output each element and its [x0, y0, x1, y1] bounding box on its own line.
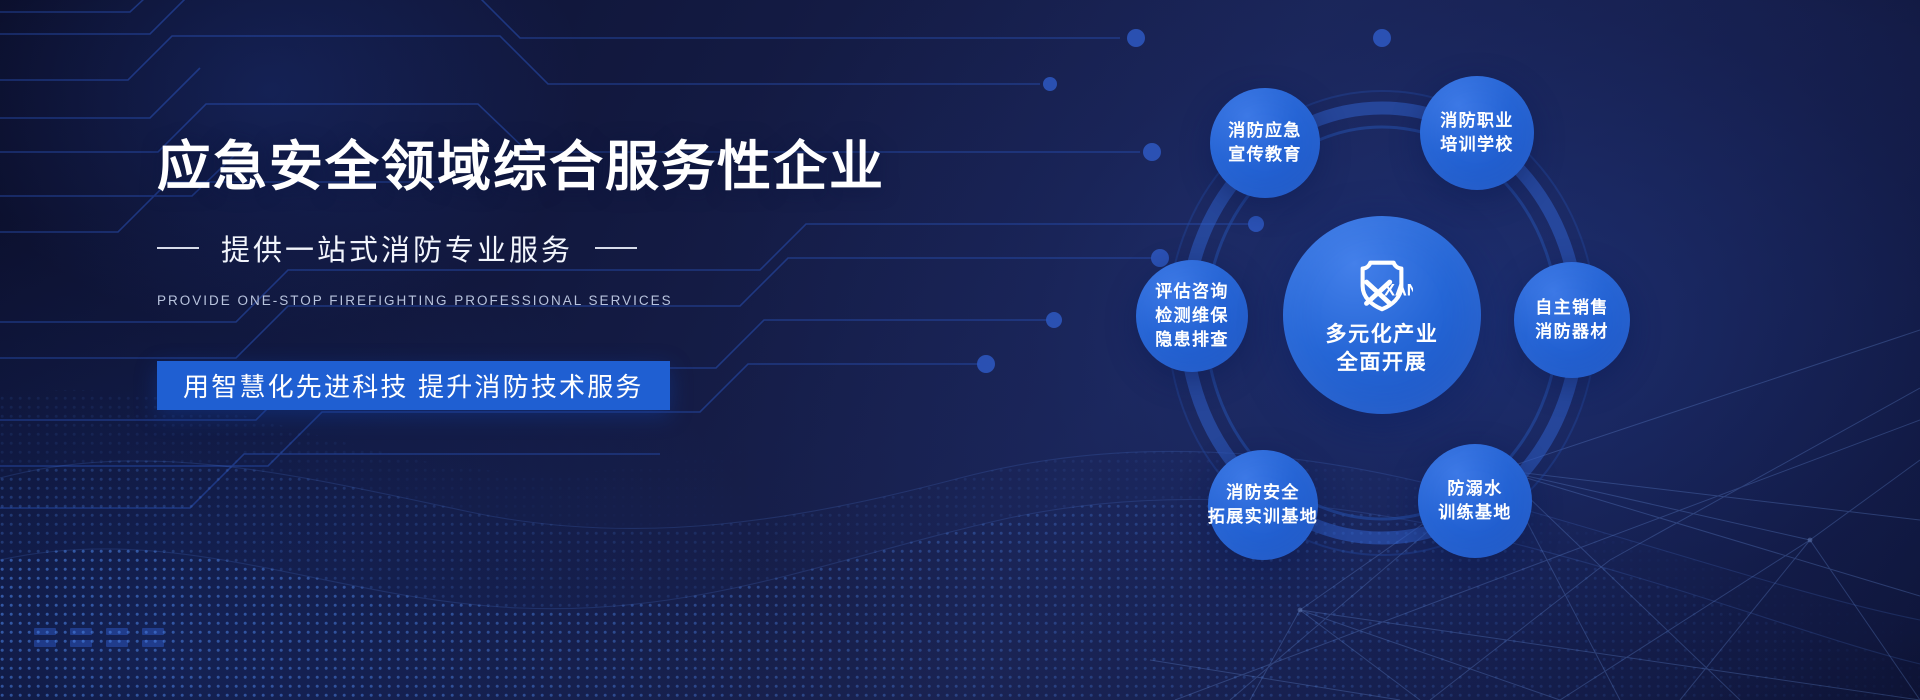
bubble-line-1: 评估咨询	[1155, 280, 1229, 304]
banner-stage: 应急安全领域综合服务性企业 提供一站式消防专业服务 PROVIDE ONE-ST…	[0, 0, 1920, 700]
service-bubble-drowning-prevention-base[interactable]: 防溺水 训练基地	[1418, 444, 1532, 558]
service-bubble-equipment-sales[interactable]: 自主销售 消防器材	[1514, 262, 1630, 378]
bubble-line-2: 培训学校	[1440, 133, 1514, 157]
rule-left-decoration	[157, 247, 199, 249]
bubble-line-1: 消防安全	[1226, 481, 1300, 505]
bubble-line-1: 防溺水	[1447, 477, 1502, 501]
logo-wordmark: XAN	[1384, 282, 1413, 300]
shield-icon: XAN	[1351, 253, 1413, 315]
english-tagline: PROVIDE ONE-STOP FIREFIGHTING PROFESSION…	[157, 293, 917, 308]
bubble-line-3: 隐患排查	[1155, 328, 1229, 352]
rule-right-decoration	[595, 247, 637, 249]
cta-button[interactable]: 用智慧化先进科技 提升消防技术服务	[157, 361, 670, 410]
service-bubble-vocational-training-school[interactable]: 消防职业 培训学校	[1420, 76, 1534, 190]
service-circle-diagram: 消防应急 宣传教育 消防职业 培训学校 自主销售 消防器材 防溺水 训练基地 消…	[1150, 70, 1770, 630]
service-bubble-fire-emergency-education[interactable]: 消防应急 宣传教育	[1210, 88, 1320, 198]
bubble-line-1: 自主销售	[1535, 296, 1609, 320]
center-line-2: 全面开展	[1337, 349, 1427, 377]
service-bubble-safety-training-base[interactable]: 消防安全 拓展实训基地	[1208, 450, 1318, 560]
subtitle-row: 提供一站式消防专业服务	[157, 227, 917, 269]
cta-button-label: 用智慧化先进科技 提升消防技术服务	[183, 367, 644, 404]
service-bubble-center-diversified-industry[interactable]: XAN 多元化产业 全面开展	[1283, 216, 1481, 414]
page-title: 应急安全领域综合服务性企业	[157, 136, 917, 199]
bubble-line-2: 训练基地	[1438, 501, 1512, 525]
bubble-line-1: 消防应急	[1228, 119, 1302, 143]
bubble-line-2: 宣传教育	[1228, 143, 1302, 167]
bubble-line-2: 消防器材	[1535, 320, 1609, 344]
hero-copy-block: 应急安全领域综合服务性企业 提供一站式消防专业服务 PROVIDE ONE-ST…	[157, 136, 917, 410]
service-bubble-assessment-inspection[interactable]: 评估咨询 检测维保 隐患排查	[1136, 260, 1248, 372]
bubble-line-2: 检测维保	[1155, 304, 1229, 328]
center-line-1: 多元化产业	[1326, 321, 1439, 349]
bubble-line-2: 拓展实训基地	[1208, 505, 1318, 529]
page-subtitle: 提供一站式消防专业服务	[221, 227, 573, 269]
bubble-line-1: 消防职业	[1440, 109, 1514, 133]
